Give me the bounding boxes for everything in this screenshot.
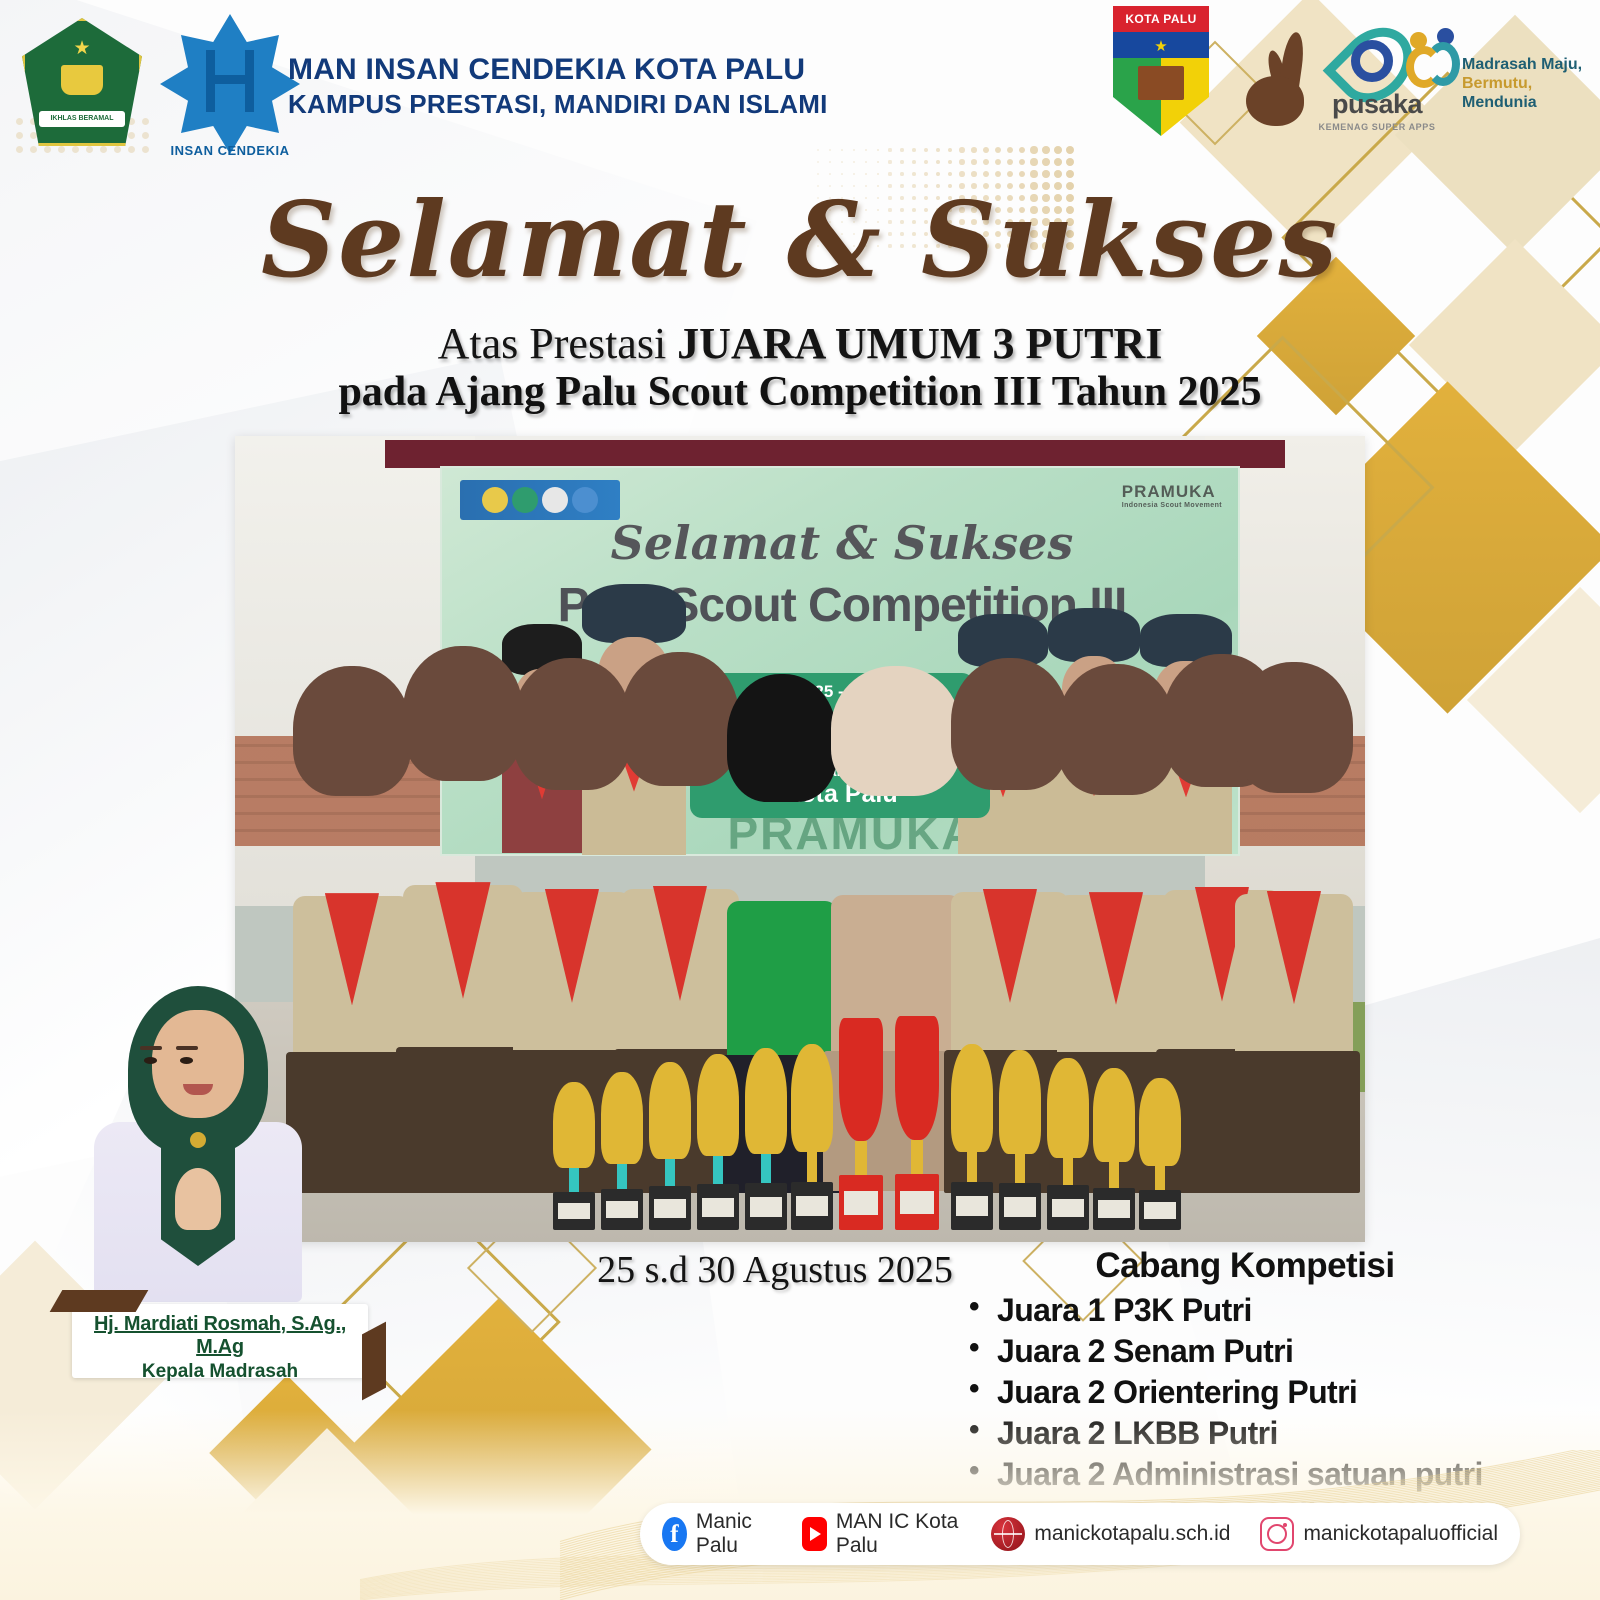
event-photo: PRAMUKA Indonesia Scout Movement Selamat… — [235, 436, 1365, 1242]
name-card-corner-bottom — [362, 1322, 386, 1401]
social-facebook-label: Manic Palu — [696, 1510, 772, 1558]
event-date-caption: 25 s.d 30 Agustus 2025 — [560, 1248, 990, 1292]
principal-role: Kepala Madrasah — [72, 1361, 368, 1383]
insan-cendekia-label: INSAN CENDEKIA — [160, 143, 300, 158]
headline-sub1-prefix: Atas Prestasi — [438, 319, 678, 368]
madrasah-maju-tagline: Madrasah Maju, Bermutu, Mendunia — [1462, 56, 1582, 113]
madrasah-maju-logo-icon: Madrasah Maju, Bermutu, Mendunia — [1400, 20, 1595, 130]
social-instagram[interactable]: manickotapaluofficial — [1260, 1517, 1498, 1551]
globe-icon — [991, 1517, 1025, 1551]
insan-cendekia-logo-icon: INSAN CENDEKIA — [160, 14, 300, 154]
school-name: MAN INSAN CENDEKIA KOTA PALU KAMPUS PRES… — [288, 52, 948, 120]
social-facebook[interactable]: f Manic Palu — [662, 1510, 772, 1558]
social-instagram-label: manickotapaluofficial — [1303, 1522, 1498, 1546]
madrasah-line2: Bermutu, — [1462, 75, 1582, 94]
headline-script: Selamat & Sukses — [0, 178, 1600, 301]
kota-palu-emblem-icon: ★ KOTA PALU — [1113, 6, 1209, 136]
principal-name: Hj. Mardiati Rosmah, S.Ag., M.Ag — [72, 1313, 368, 1359]
tunas-kelapa-logo-icon — [1242, 22, 1330, 132]
trophy-3 — [649, 1062, 691, 1230]
trophy-9 — [951, 1044, 993, 1230]
trophy-12 — [1093, 1068, 1135, 1230]
kemenag-logo-icon: ★ IKHLAS BERAMAL — [22, 18, 142, 146]
social-youtube[interactable]: MAN IC Kota Palu — [802, 1510, 962, 1558]
student-8 — [1235, 662, 1353, 1186]
headline-sub1-strong: JUARA UMUM 3 PUTRI — [677, 319, 1162, 368]
name-card-corner-top — [50, 1290, 149, 1312]
trophy-5 — [745, 1048, 787, 1230]
banner-script: Selamat & Sukses — [442, 516, 1242, 570]
poster-canvas: ★ IKHLAS BERAMAL INSAN CENDEKIA MAN INSA… — [0, 0, 1600, 1600]
headline-sub1: Atas Prestasi JUARA UMUM 3 PUTRI — [0, 318, 1600, 369]
madrasah-line3: Mendunia — [1462, 94, 1582, 113]
pramuka-mark-sub: Indonesia Scout Movement — [1122, 502, 1222, 509]
school-name-line2: KAMPUS PRESTASI, MANDIRI DAN ISLAMI — [288, 89, 948, 121]
social-youtube-label: MAN IC Kota Palu — [836, 1510, 962, 1558]
trophy-13 — [1139, 1078, 1181, 1230]
list-item: Juara 2 Senam Putri — [965, 1331, 1555, 1372]
banner-sponsor-logos — [460, 480, 620, 520]
trophy-2 — [601, 1072, 643, 1230]
social-website-label: manickotapalu.sch.id — [1034, 1522, 1230, 1546]
facebook-icon: f — [662, 1517, 687, 1551]
poster-header: ★ IKHLAS BERAMAL INSAN CENDEKIA MAN INSA… — [0, 0, 1600, 165]
instagram-icon — [1260, 1517, 1294, 1551]
competition-list-title: Cabang Kompetisi — [935, 1246, 1555, 1286]
social-website[interactable]: manickotapalu.sch.id — [991, 1517, 1230, 1551]
trophy-1 — [553, 1082, 595, 1230]
madrasah-line1: Madrasah Maju, — [1462, 56, 1582, 75]
trophy-8-red — [895, 1016, 939, 1230]
pramuka-mark: PRAMUKA Indonesia Scout Movement — [1122, 482, 1222, 509]
principal-name-card: Hj. Mardiati Rosmah, S.Ag., M.Ag Kepala … — [72, 1304, 368, 1378]
kemenag-motto: IKHLAS BERAMAL — [39, 111, 126, 127]
school-name-line1: MAN INSAN CENDEKIA KOTA PALU — [288, 52, 948, 89]
list-item: Juara 1 P3K Putri — [965, 1290, 1555, 1331]
trophy-4 — [697, 1054, 739, 1230]
trophy-7-red — [839, 1018, 883, 1230]
kota-palu-label: KOTA PALU — [1113, 6, 1209, 32]
principal-portrait — [78, 972, 318, 1302]
social-media-bar: f Manic Palu MAN IC Kota Palu manickotap… — [640, 1503, 1520, 1565]
youtube-icon — [802, 1517, 827, 1551]
trophy-10 — [999, 1050, 1041, 1230]
headline-sub2: pada Ajang Palu Scout Competition III Ta… — [0, 368, 1600, 416]
list-item: Juara 2 Orientering Putri — [965, 1372, 1555, 1413]
trophy-6 — [791, 1044, 833, 1230]
trophy-11 — [1047, 1058, 1089, 1230]
